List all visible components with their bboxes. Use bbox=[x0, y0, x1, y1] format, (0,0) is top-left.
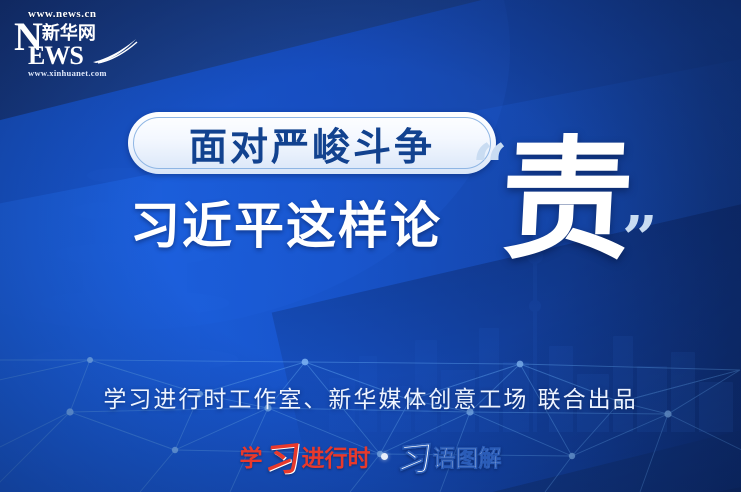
brand-separator-dot bbox=[381, 453, 388, 460]
program-brand-logo[interactable]: 学 习 进行时 习 语图解 bbox=[0, 432, 741, 480]
swoosh-icon bbox=[92, 38, 138, 64]
brand-red-prefix: 学 bbox=[240, 439, 263, 473]
logo-chinese-name: 新华网 bbox=[42, 23, 96, 43]
page-title: 习近平这样论 bbox=[130, 186, 442, 258]
brand-white-xi-script: 习 bbox=[396, 445, 433, 474]
brand-xuexi-jinxingshi: 学 习 进行时 bbox=[240, 439, 371, 473]
brand-white-suffix: 语图解 bbox=[433, 439, 502, 473]
quote-close-mark: ” bbox=[622, 208, 658, 270]
logo-letters-ews: EWS bbox=[28, 44, 83, 68]
title-badge: 面对严峻斗争 bbox=[128, 112, 496, 174]
title-badge-label: 面对严峻斗争 bbox=[189, 116, 435, 171]
brand-red-suffix: 进行时 bbox=[302, 439, 371, 473]
brand-xiyu-tujie: 习 语图解 bbox=[398, 439, 502, 473]
brand-red-xi-script: 习 bbox=[264, 445, 301, 474]
credit-line: 学习进行时工作室、新华媒体创意工场 联合出品 bbox=[0, 380, 741, 414]
calligraphy-character: 责 bbox=[492, 130, 642, 280]
xinhua-news-logo[interactable]: www.news.cn N 新华网 EWS www.xinhuanet.com bbox=[14, 8, 134, 74]
logo-url-bottom: www.xinhuanet.com bbox=[28, 68, 107, 78]
poster-canvas: www.news.cn N 新华网 EWS www.xinhuanet.com … bbox=[0, 0, 741, 492]
